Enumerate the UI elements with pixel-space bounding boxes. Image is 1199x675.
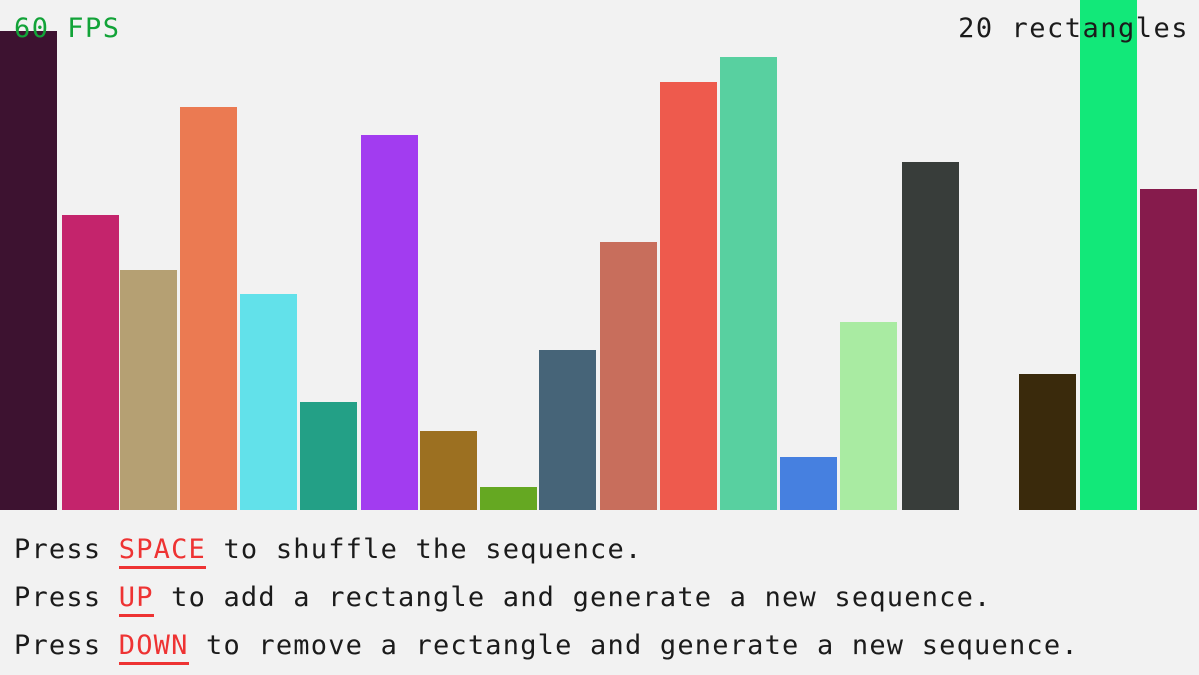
instruction-suffix: to remove a rectangle and generate a new…	[189, 630, 1079, 661]
instruction-suffix: to shuffle the sequence.	[206, 534, 642, 565]
instruction-line-2: Press UP to add a rectangle and generate…	[14, 574, 1199, 622]
fps-counter: 60 FPS	[14, 15, 121, 42]
bar-6-teal	[300, 402, 357, 510]
bar-5-cyan	[240, 294, 297, 510]
bar-4-orange	[180, 107, 237, 510]
bar-20-maroon	[1140, 189, 1197, 510]
bar-13-emerald	[720, 57, 777, 510]
bar-11-terracotta	[600, 242, 657, 510]
bar-3-tan	[120, 270, 177, 510]
bar-15-light-green	[840, 322, 897, 510]
bar-7-purple	[361, 135, 418, 510]
bar-1-dark-plum	[0, 31, 57, 510]
key-down[interactable]: DOWN	[119, 630, 189, 665]
bar-chart	[0, 0, 1199, 510]
instruction-line-3: Press DOWN to remove a rectangle and gen…	[14, 622, 1199, 670]
bar-8-brown-ochre	[420, 431, 477, 510]
bar-2-magenta	[62, 215, 119, 510]
rectangle-count-label: 20 rectangles	[958, 15, 1189, 42]
bar-18-dark-brown	[1019, 374, 1076, 510]
bar-10-slate-blue	[539, 350, 596, 510]
instruction-prefix: Press	[14, 534, 119, 565]
app-canvas: 60 FPS 20 rectangles Press SPACE to shuf…	[0, 0, 1199, 675]
bar-19-spring-green	[1080, 0, 1137, 510]
instructions-panel: Press SPACE to shuffle the sequence.Pres…	[0, 512, 1199, 675]
bar-12-red	[660, 82, 717, 510]
instruction-prefix: Press	[14, 582, 119, 613]
key-up[interactable]: UP	[119, 582, 154, 617]
instruction-suffix: to add a rectangle and generate a new se…	[154, 582, 992, 613]
key-space[interactable]: SPACE	[119, 534, 206, 569]
bar-14-blue	[780, 457, 837, 510]
bar-16-charcoal	[902, 162, 959, 510]
instruction-prefix: Press	[14, 630, 119, 661]
bar-9-olive-green	[480, 487, 537, 510]
instruction-line-1: Press SPACE to shuffle the sequence.	[14, 526, 1199, 574]
